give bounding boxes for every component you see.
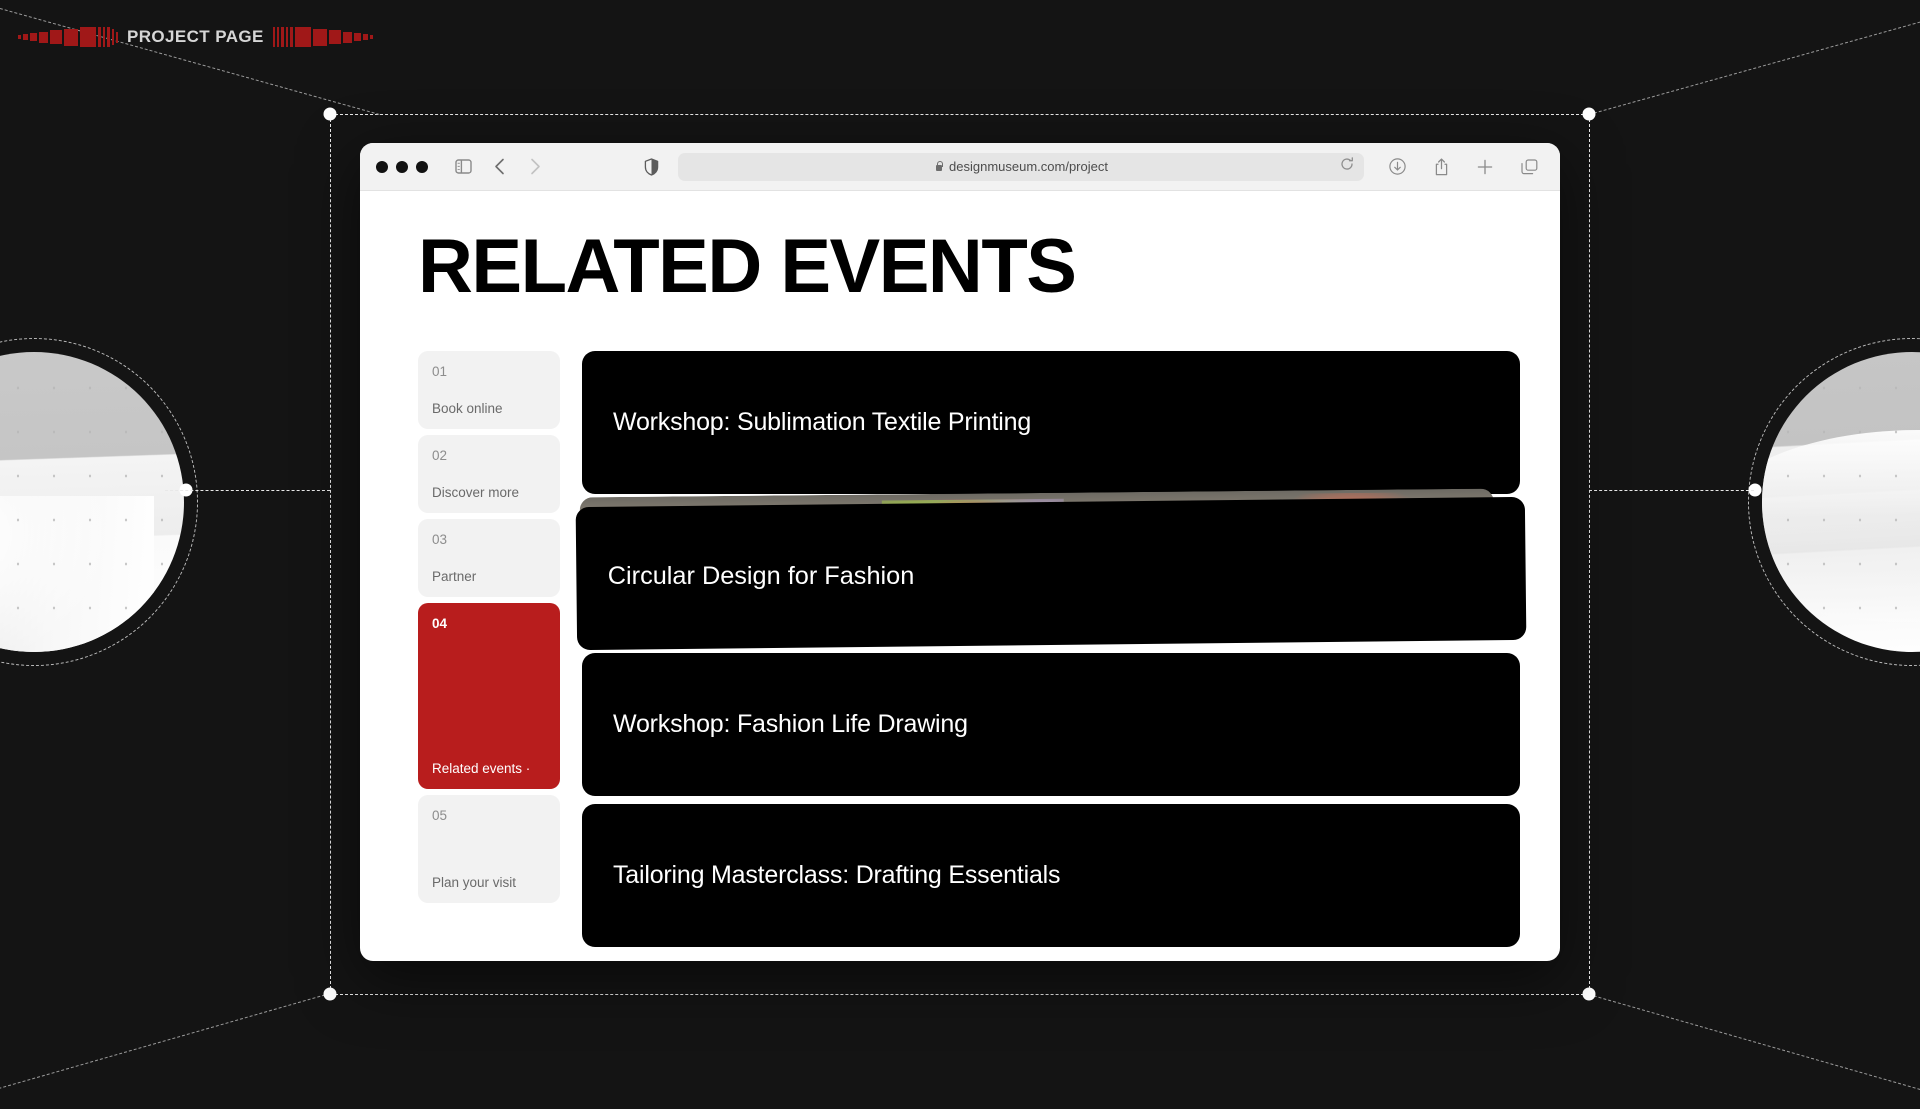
project-page-label: PROJECT PAGE bbox=[18, 24, 373, 50]
page-title: RELATED EVENTS bbox=[418, 229, 1520, 305]
tab-overview-icon[interactable] bbox=[1514, 152, 1544, 182]
privacy-shield-icon[interactable] bbox=[636, 152, 666, 182]
sidebar-item-partner[interactable]: 03 Partner bbox=[418, 519, 560, 597]
reload-icon[interactable] bbox=[1340, 157, 1354, 176]
sidebar-item-number: 05 bbox=[432, 808, 546, 823]
download-icon[interactable] bbox=[1382, 152, 1412, 182]
perspective-guide-bottom-right bbox=[1589, 994, 1920, 1100]
sidebar-item-related-events[interactable]: 04 Related events · bbox=[418, 603, 560, 789]
event-card[interactable]: Tailoring Masterclass: Drafting Essentia… bbox=[582, 804, 1520, 947]
sidebar-item-number: 01 bbox=[432, 364, 546, 379]
sidebar-item-discover-more[interactable]: 02 Discover more bbox=[418, 435, 560, 513]
sidebar-item-label: Book online bbox=[432, 401, 546, 416]
traffic-lights[interactable] bbox=[376, 161, 428, 173]
selection-guide-left bbox=[165, 490, 330, 491]
selection-guide-right bbox=[1589, 490, 1754, 491]
photo-dot-grid-right bbox=[1762, 352, 1920, 652]
event-card-title: Workshop: Sublimation Textile Printing bbox=[613, 408, 1031, 437]
perspective-guide-bottom-left bbox=[0, 993, 330, 1099]
selection-edge-top bbox=[330, 114, 1589, 115]
sidebar-item-label: Related events · bbox=[432, 761, 546, 776]
sidebar-item-label: Discover more bbox=[432, 485, 546, 500]
decorative-circle-right bbox=[1762, 352, 1920, 652]
back-arrow-icon[interactable] bbox=[484, 152, 514, 182]
plus-icon[interactable] bbox=[1470, 152, 1500, 182]
address-bar-content: designmuseum.com/project bbox=[934, 159, 1108, 174]
selection-handle-bottom-left[interactable] bbox=[324, 988, 337, 1001]
selection-handle-top-left[interactable] bbox=[324, 108, 337, 121]
events-list: Workshop: Sublimation Textile Printing a… bbox=[582, 351, 1520, 947]
section-sidenav: 01 Book online 02 Discover more 03 Partn… bbox=[418, 351, 560, 947]
selection-handle-top-right[interactable] bbox=[1583, 108, 1596, 121]
photo-dot-grid-left bbox=[0, 352, 184, 652]
share-icon[interactable] bbox=[1426, 152, 1456, 182]
red-bars-right bbox=[273, 26, 373, 48]
content-row: 01 Book online 02 Discover more 03 Partn… bbox=[418, 351, 1520, 947]
minimize-window-button[interactable] bbox=[396, 161, 408, 173]
sidebar-item-label: Partner bbox=[432, 569, 546, 584]
event-card-title: Tailoring Masterclass: Drafting Essentia… bbox=[613, 861, 1060, 890]
sidebar-item-label: Plan your visit bbox=[432, 875, 546, 890]
selection-edge-left bbox=[330, 114, 331, 994]
decorative-circle-left bbox=[0, 352, 184, 652]
event-card-title: Workshop: Fashion Life Drawing bbox=[613, 710, 968, 739]
navigation-arrows[interactable] bbox=[484, 152, 550, 182]
project-page-label-text: PROJECT PAGE bbox=[118, 27, 273, 47]
page-body: RELATED EVENTS 01 Book online 02 Discove… bbox=[360, 191, 1560, 961]
sidebar-item-plan-your-visit[interactable]: 05 Plan your visit bbox=[418, 795, 560, 903]
sidebar-item-number: 03 bbox=[432, 532, 546, 547]
sidebar-item-number: 04 bbox=[432, 616, 546, 631]
canvas-stage: PROJECT PAGE bbox=[0, 0, 1920, 1109]
sidebar-item-number: 02 bbox=[432, 448, 546, 463]
event-card[interactable]: Circular Design for Fashion bbox=[576, 497, 1527, 650]
browser-window: designmuseum.com/project bbox=[360, 143, 1560, 961]
sidebar-item-book-online[interactable]: 01 Book online bbox=[418, 351, 560, 429]
selection-edge-bottom bbox=[330, 994, 1589, 995]
close-window-button[interactable] bbox=[376, 161, 388, 173]
event-card[interactable]: Workshop: Fashion Life Drawing bbox=[582, 653, 1520, 796]
event-card-title: Circular Design for Fashion bbox=[608, 562, 915, 591]
sidebar-toggle-icon[interactable] bbox=[448, 152, 478, 182]
lock-icon bbox=[934, 161, 943, 172]
address-bar[interactable]: designmuseum.com/project bbox=[678, 153, 1364, 181]
red-bars-left bbox=[18, 26, 118, 48]
perspective-guide-top-right bbox=[1589, 8, 1920, 115]
zoom-window-button[interactable] bbox=[416, 161, 428, 173]
forward-arrow-icon[interactable] bbox=[520, 152, 550, 182]
url-text: designmuseum.com/project bbox=[949, 159, 1108, 174]
selection-edge-right bbox=[1589, 114, 1590, 994]
selection-handle-bottom-right[interactable] bbox=[1583, 988, 1596, 1001]
event-card-with-photo[interactable]: anes, their forelocks." is made in a fac… bbox=[582, 502, 1520, 645]
browser-chrome: designmuseum.com/project bbox=[360, 143, 1560, 191]
event-card[interactable]: Workshop: Sublimation Textile Printing bbox=[582, 351, 1520, 494]
chrome-right-toolbar bbox=[1382, 152, 1544, 182]
